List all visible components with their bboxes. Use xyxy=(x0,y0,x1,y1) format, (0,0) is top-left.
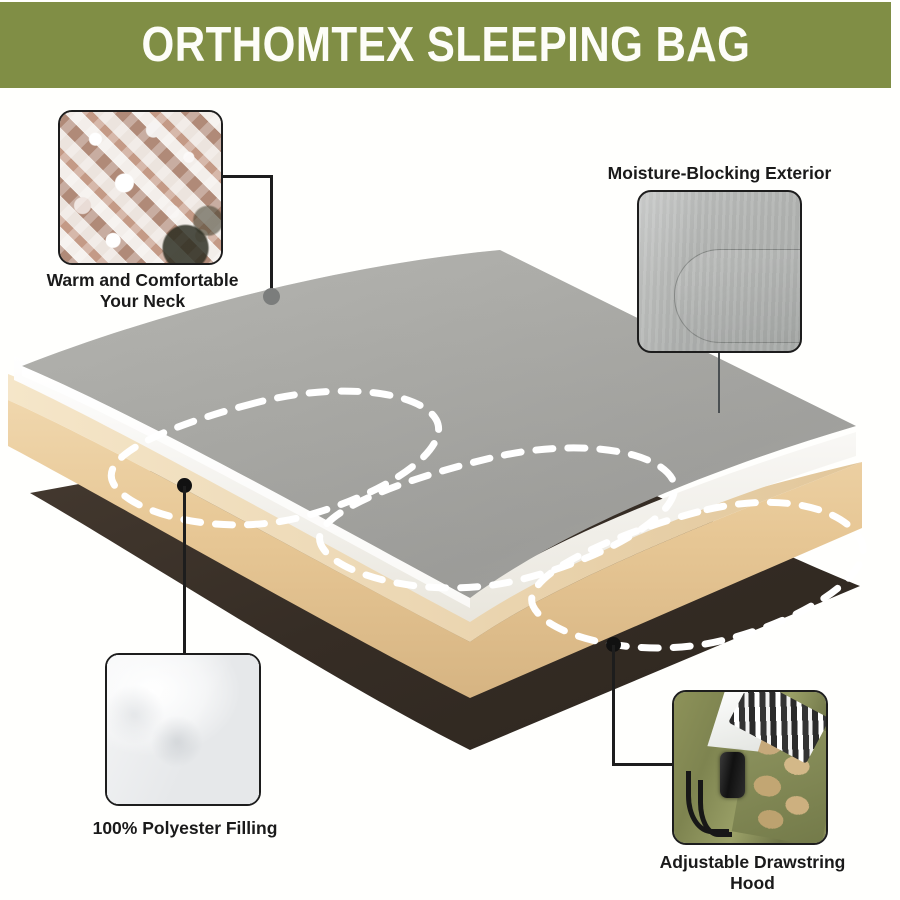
fleece-texture-icon xyxy=(60,112,221,263)
page-title: ORTHOMTEX SLEEPING BAG xyxy=(141,17,750,73)
hood-cordlock-icon xyxy=(674,692,826,843)
header-banner: ORTHOMTEX SLEEPING BAG xyxy=(0,2,891,88)
connector-line-polyester-filling xyxy=(183,486,186,654)
connector-line-moisture-blocking xyxy=(718,353,720,413)
connector-line-warm-neck-horizontal xyxy=(223,175,273,178)
callout-label-warm-neck-line2: Your Neck xyxy=(10,291,275,312)
callout-label-warm-neck: Warm and Comfortable Your Neck xyxy=(10,270,275,313)
connector-line-drawstring-hood-horizontal xyxy=(612,763,674,766)
callout-label-warm-neck-line1: Warm and Comfortable xyxy=(10,270,275,291)
callout-label-drawstring-hood: Adjustable Drawstring Hood xyxy=(625,852,880,895)
infographic-canvas: ORTHOMTEX SLEEPING BAG xyxy=(0,0,900,900)
fiberfill-texture-icon xyxy=(107,655,259,804)
callout-image-moisture-blocking[interactable] xyxy=(637,190,802,353)
callout-label-polyester-filling-line1: 100% Polyester Filling xyxy=(40,818,330,839)
cord-lock-shape xyxy=(720,752,746,797)
callout-label-moisture-blocking: Moisture-Blocking Exterior xyxy=(572,163,867,184)
callout-label-polyester-filling: 100% Polyester Filling xyxy=(40,818,330,839)
callout-label-drawstring-hood-line1: Adjustable Drawstring xyxy=(625,852,880,873)
quilted-panel-icon xyxy=(639,192,800,351)
callout-label-drawstring-hood-line2: Hood xyxy=(625,873,880,894)
connector-line-drawstring-hood-vertical xyxy=(612,645,615,765)
callout-image-warm-neck[interactable] xyxy=(58,110,223,265)
callout-label-moisture-blocking-line1: Moisture-Blocking Exterior xyxy=(572,163,867,184)
callout-image-drawstring-hood[interactable] xyxy=(672,690,828,845)
callout-image-polyester-filling[interactable] xyxy=(105,653,261,806)
